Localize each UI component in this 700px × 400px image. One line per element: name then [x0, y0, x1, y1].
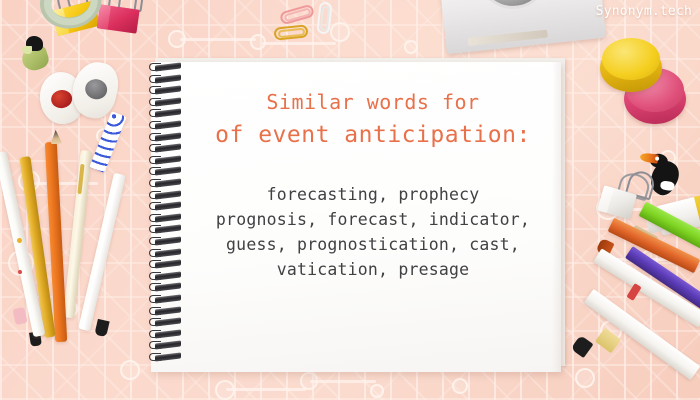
crayon-cluster-right — [570, 222, 700, 400]
page-title-line1: Similar words for — [266, 90, 479, 114]
synonym-list: forecasting, prophecy prognosis, forecas… — [216, 182, 530, 282]
synonym-line: vatication, presage — [216, 257, 530, 282]
spiral-coil-ring — [141, 168, 181, 175]
spiral-coil-ring — [141, 215, 181, 222]
spiral-coil-ring — [141, 192, 181, 199]
spiral-coil-ring — [141, 145, 181, 152]
spiral-coil-ring — [141, 122, 181, 129]
desk-scene: Synonym.tech — [0, 0, 700, 400]
bird-figurine — [20, 36, 50, 70]
spiral-coil-ring — [141, 134, 181, 141]
spiral-coil-ring — [141, 226, 181, 233]
ruler-dotted-blue — [89, 111, 126, 173]
spiral-coil-ring — [141, 157, 181, 164]
spiral-coil-ring — [141, 284, 181, 291]
spiral-coil-ring — [141, 319, 181, 326]
eraser-dot-red — [50, 89, 73, 110]
spiral-coil-ring — [141, 87, 181, 94]
marker-white-lower-band — [595, 328, 621, 354]
spiral-coil-ring — [141, 110, 181, 117]
synonym-line: forecasting, prophecy — [216, 182, 530, 207]
spiral-coil-ring — [141, 203, 181, 210]
spiral-coil-ring — [141, 296, 181, 303]
spiral-coil-ring — [141, 261, 181, 268]
site-logo: Synonym.tech — [596, 4, 692, 19]
pencil-orange-tip — [50, 130, 63, 145]
spiral-binding — [141, 64, 185, 370]
synonym-line: prognosis, forecast, indicator, — [216, 207, 530, 232]
pen-patterned-accent — [12, 307, 27, 325]
spiral-coil-ring — [141, 342, 181, 349]
spiral-coil-ring — [141, 273, 181, 280]
marker-white-lower-tip — [571, 335, 594, 358]
page-title-line2: of event anticipation: — [215, 122, 531, 148]
notebook-page: Similar words for of event anticipation:… — [151, 62, 561, 372]
spiral-coil-ring — [141, 64, 181, 71]
pen-cluster-left — [0, 120, 150, 400]
notebook: Similar words for of event anticipation:… — [151, 62, 565, 372]
spiral-coil-ring — [141, 99, 181, 106]
spiral-coil-ring — [141, 250, 181, 257]
marker-white-accent — [626, 283, 641, 301]
spiral-coil-ring — [141, 354, 181, 361]
spiral-coil-ring — [141, 308, 181, 315]
pen-white-cap — [94, 319, 109, 337]
spiral-coil-ring — [141, 180, 181, 187]
macaron-yellow — [600, 38, 662, 94]
notebook-content: Similar words for of event anticipation:… — [185, 62, 561, 372]
synonym-line: guess, prognostication, cast, — [216, 232, 530, 257]
eraser-dot-gray — [83, 77, 109, 101]
spiral-coil-ring — [141, 238, 181, 245]
spiral-coil-ring — [141, 331, 181, 338]
spiral-coil-ring — [141, 76, 181, 83]
